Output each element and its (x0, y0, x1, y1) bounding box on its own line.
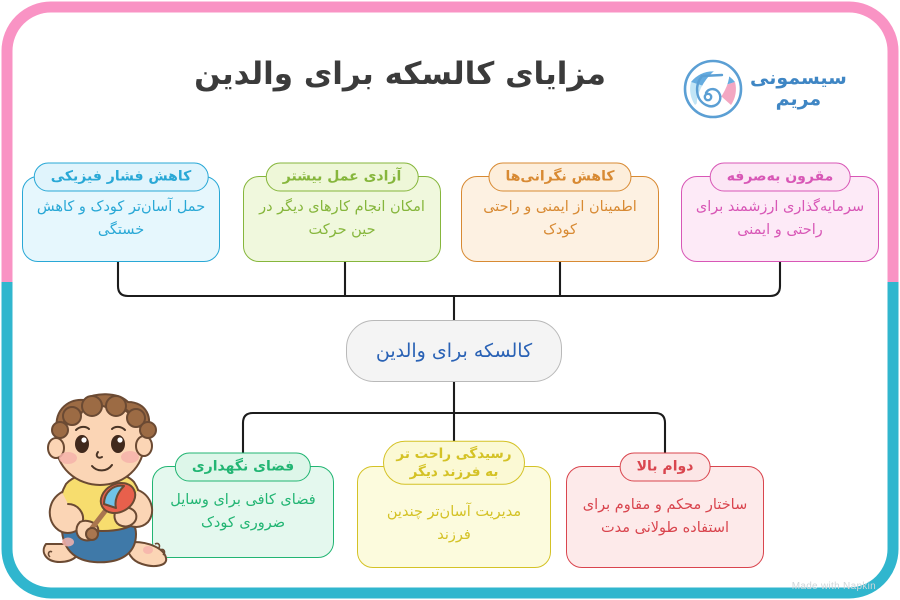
benefit-card-body: حمل آسان‌تر کودک و کاهش خستگی (23, 196, 219, 243)
central-hub-label: کالسکه برای والدین (376, 340, 532, 362)
benefit-card-title: مقرون به‌صرفه (710, 163, 851, 192)
benefit-card-title: کاهش نگرانی‌ها (488, 163, 631, 192)
sitting-baby-with-rattle-illustration (22, 392, 194, 574)
benefit-card-body: ساختار محکم و مقاوم برای استفاده طولانی … (567, 494, 763, 541)
benefit-card-title: کاهش فشار فیزیکی (34, 163, 209, 192)
benefit-card-title: دوام بالا (620, 453, 711, 482)
benefit-card-other-child-care[interactable]: مدیریت آسان‌تر چندین فرزند رسیدگی راحت ت… (357, 466, 551, 568)
watermark: Made with Napkin (792, 581, 876, 592)
benefit-card-title: رسیدگی راحت تر به فرزند دیگر (383, 441, 525, 485)
benefit-card-freedom-of-action[interactable]: امکان انجام کارهای دیگر در حین حرکت آزاد… (243, 176, 441, 262)
benefit-card-body: مدیریت آسان‌تر چندین فرزند (358, 487, 550, 548)
benefit-card-title: فضای نگهداری (175, 453, 311, 482)
central-hub-node[interactable]: کالسکه برای والدین (346, 320, 562, 382)
benefit-card-physical-strain[interactable]: حمل آسان‌تر کودک و کاهش خستگی کاهش فشار … (22, 176, 220, 262)
benefit-card-title: آزادی عمل بیشتر (266, 163, 419, 192)
benefit-card-cost-effective[interactable]: سرمایه‌گذاری ارزشمند برای راحتی و ایمنی … (681, 176, 879, 262)
benefit-card-body: اطمینان از ایمنی و راحتی کودک (462, 196, 658, 243)
benefit-card-less-worry[interactable]: اطمینان از ایمنی و راحتی کودک کاهش نگران… (461, 176, 659, 262)
benefit-card-body: سرمایه‌گذاری ارزشمند برای راحتی و ایمنی (682, 196, 878, 243)
benefit-card-durability[interactable]: ساختار محکم و مقاوم برای استفاده طولانی … (566, 466, 764, 568)
infographic-canvas: مزایای کالسکه برای والدین سیسمونی مریم (0, 0, 900, 600)
benefit-card-body: امکان انجام کارهای دیگر در حین حرکت (244, 196, 440, 243)
